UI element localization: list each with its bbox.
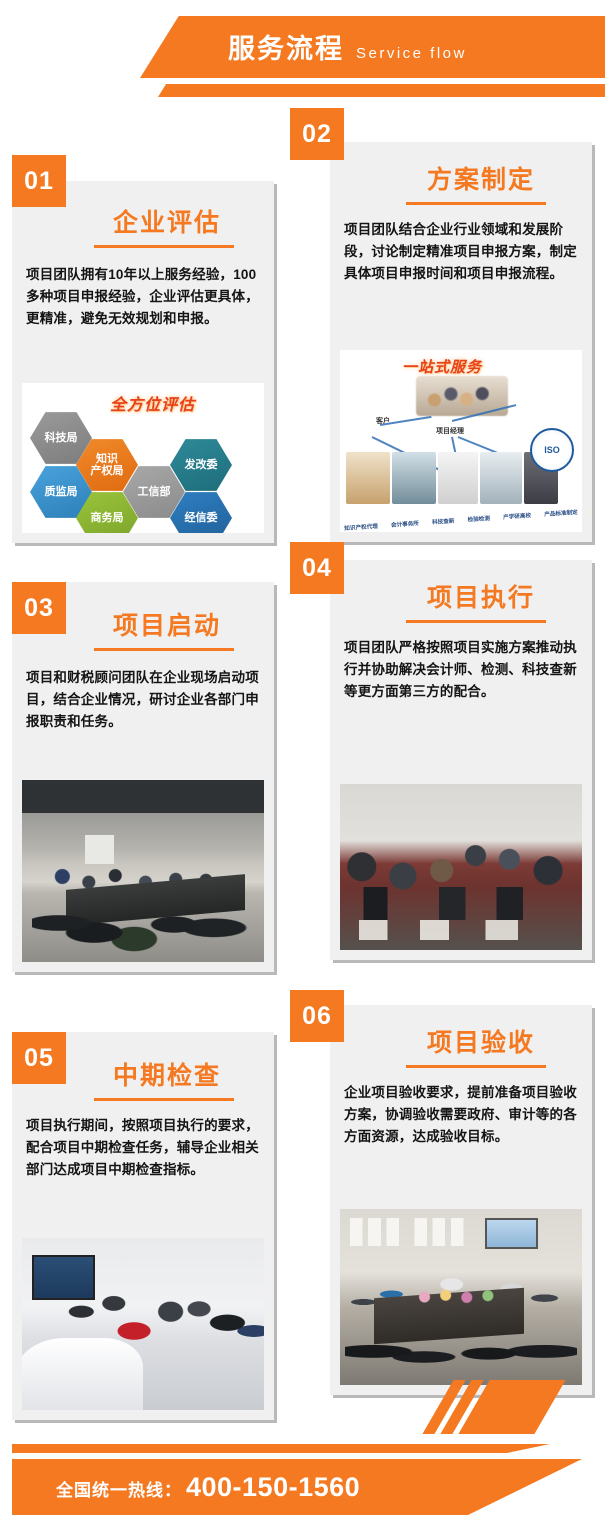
service-label-research: 科技查新 — [432, 516, 455, 526]
service-diagram-labels: 知识产权代理 会计事务所 科技查新 检验检测 产学研高校 产品标准制定 — [344, 508, 578, 532]
step-card-03[interactable]: 项目启动 项目和财税顾问团队在企业现场启动项目，结合企业情况，研讨企业各部门申报… — [12, 582, 274, 972]
step-photo-04 — [340, 784, 582, 950]
header-title-group: 服务流程 Service flow — [228, 27, 467, 66]
service-label-standard: 产品标准制定 — [544, 508, 578, 518]
page-footer: 全国统一热线： 400-150-1560 — [0, 1430, 605, 1538]
hotline-number[interactable]: 400-150-1560 — [186, 1472, 360, 1503]
step-photo-05 — [22, 1238, 264, 1410]
service-label-university: 产学研高校 — [503, 511, 531, 521]
step-badge-03: 03 — [12, 582, 66, 634]
photo-papers — [359, 920, 562, 940]
hexagon-diagram-title: 全方位评估 — [110, 391, 195, 415]
service-label-testing: 检验检测 — [467, 514, 490, 524]
step-badge-01: 01 — [12, 155, 66, 207]
step-card-01[interactable]: 企业评估 项目团队拥有10年以上服务经验，100多种项目申报经验，企业评估更具体… — [12, 181, 274, 543]
step-title-04: 项目执行 — [330, 560, 592, 614]
step-card-02[interactable]: 方案制定 项目团队结合企业行业领域和发展阶段，讨论制定精准项目申报方案，制定具体… — [330, 142, 592, 542]
step-badge-06: 06 — [290, 990, 344, 1042]
service-diagram: 一站式服务 客户 项目经理 ISO 知识产权代理 会计事务所 科技查新 检验检测… — [340, 350, 582, 532]
photo-chairs — [345, 1329, 577, 1385]
photo-projector-screen — [485, 1218, 538, 1250]
service-label-accounting: 会计事务所 — [391, 519, 419, 529]
step-body-04: 项目团队严格按照项目实施方案推动执行并协助解决会计师、检测、科技查新等更方面第三… — [330, 623, 592, 703]
infographic-page: 服务流程 Service flow 01 企业评估 项目团队拥有10年以上服务经… — [0, 0, 605, 1538]
photo-chairs — [32, 875, 255, 955]
header-bar-accent — [158, 84, 605, 97]
step-photo-06 — [340, 1209, 582, 1385]
step-body-05: 项目执行期间，按照项目执行的要求，配合项目中期检查任务，辅导企业相关部门达成项目… — [12, 1101, 274, 1181]
hotline-group: 全国统一热线： 400-150-1560 — [56, 1472, 360, 1503]
step-badge-02: 02 — [290, 108, 344, 160]
page-header: 服务流程 Service flow — [0, 0, 605, 112]
step-body-02: 项目团队结合企业行业领域和发展阶段，讨论制定精准项目申报方案，制定具体项目申报时… — [330, 205, 592, 285]
step-title-02: 方案制定 — [330, 142, 592, 196]
service-label-ip: 知识产权代理 — [344, 522, 378, 532]
page-title: 服务流程 — [228, 27, 344, 66]
step-body-06: 企业项目验收要求，提前准备项目验收方案，协调验收需要政府、审计等的各方面资源，达… — [330, 1068, 592, 1148]
service-thumb-testing — [480, 452, 522, 504]
step-body-01: 项目团队拥有10年以上服务经验，100多种项目申报经验，企业评估更具体，更精准，… — [12, 248, 274, 330]
page-subtitle: Service flow — [356, 45, 467, 62]
photo-certificate-frames — [350, 1218, 490, 1246]
photo-flowers — [413, 1286, 510, 1307]
arrow-line — [451, 437, 456, 453]
iso-seal-icon: ISO — [530, 428, 574, 472]
step-card-05[interactable]: 中期检查 项目执行期间，按照项目执行的要求，配合项目中期检查任务，辅导企业相关部… — [12, 1032, 274, 1420]
photo-reception-desk — [22, 1338, 143, 1410]
footer-accent-bar — [12, 1444, 550, 1453]
step-photo-03 — [22, 780, 264, 962]
step-badge-04: 04 — [290, 542, 344, 594]
step-title-06: 项目验收 — [330, 1005, 592, 1059]
service-thumb-research — [438, 452, 478, 504]
step-body-03: 项目和财税顾问团队在企业现场启动项目，结合企业情况，研讨企业各部门申报职责和任务… — [12, 651, 274, 733]
hexagon-diagram: 全方位评估 科技局 知识产权局 质监局 工信部 商务局 发改委 经信委 — [22, 383, 264, 533]
service-thumb-ip — [346, 452, 390, 504]
service-thumb-accounting — [392, 452, 436, 504]
hotline-label: 全国统一热线： — [56, 1476, 182, 1501]
step-card-04[interactable]: 项目执行 项目团队严格按照项目实施方案推动执行并协助解决会计师、检测、科技查新等… — [330, 560, 592, 960]
photo-laptops — [350, 887, 573, 920]
step-badge-05: 05 — [12, 1032, 66, 1084]
service-role-manager: 项目经理 — [436, 426, 464, 436]
service-diagram-title: 一站式服务 — [402, 356, 482, 377]
step-card-06[interactable]: 项目验收 企业项目验收要求，提前准备项目验收方案，协调验收需要政府、审计等的各方… — [330, 1005, 592, 1395]
